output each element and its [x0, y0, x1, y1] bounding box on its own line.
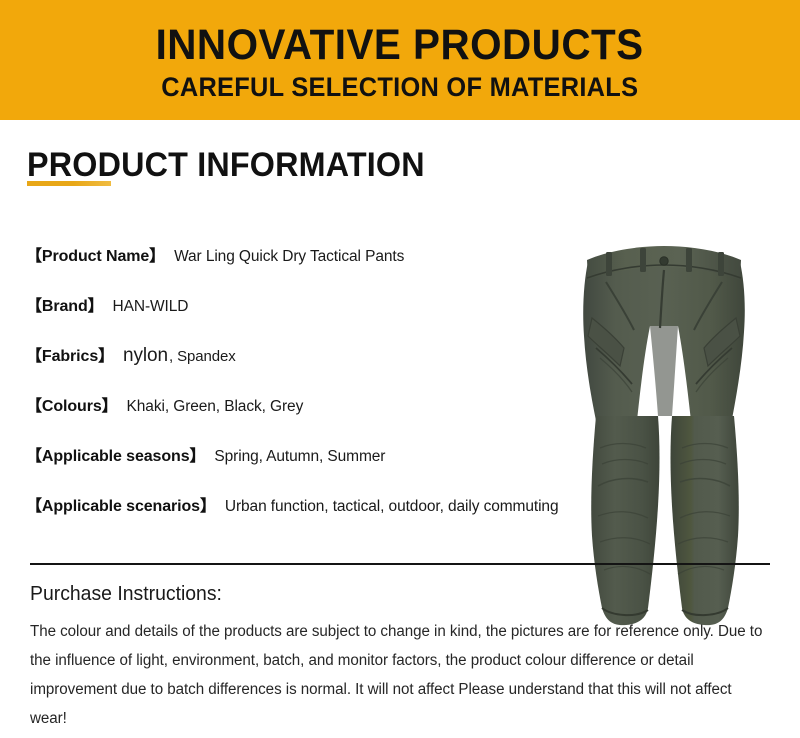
spec-value: nylon [123, 345, 168, 367]
spec-row-fabrics: 【Fabrics】 nylon , Spandex [26, 342, 586, 392]
spec-value: War Ling Quick Dry Tactical Pants [174, 248, 404, 266]
spec-value: Spring, Autumn, Summer [214, 448, 385, 466]
spec-value-secondary: , Spandex [169, 348, 236, 365]
pants-right-leg [671, 416, 739, 625]
belt-loop-left [606, 252, 612, 276]
spec-row-product-name: 【Product Name】 War Ling Quick Dry Tactic… [26, 242, 586, 292]
spec-value: Khaki, Green, Black, Grey [127, 398, 304, 416]
waist-button [660, 257, 668, 265]
product-spec-list: 【Product Name】 War Ling Quick Dry Tactic… [26, 242, 586, 542]
spec-label: 【Applicable seasons】 [26, 442, 205, 466]
belt-loop-right [718, 252, 724, 276]
belt-loop-center-left [640, 248, 646, 272]
page-title: PRODUCT INFORMATION [27, 146, 425, 185]
spec-label: 【Fabrics】 [26, 342, 114, 366]
title-accent-bar [27, 181, 111, 186]
spec-value: HAN-WILD [113, 298, 189, 316]
spec-row-colours: 【Colours】 Khaki, Green, Black, Grey [26, 392, 586, 442]
banner-title: INNOVATIVE PRODUCTS [156, 24, 644, 68]
spec-label: 【Product Name】 [26, 242, 165, 266]
banner-subtitle: CAREFUL SELECTION OF MATERIALS [161, 73, 638, 101]
belt-loop-center-right [686, 248, 692, 272]
spec-value: Urban function, tactical, outdoor, daily… [225, 498, 559, 516]
spec-row-applicable-seasons: 【Applicable seasons】 Spring, Autumn, Sum… [26, 442, 586, 492]
purchase-instructions-body: The colour and details of the products a… [30, 617, 764, 733]
pants-crotch [650, 326, 678, 416]
product-image [540, 130, 788, 630]
content-area: PRODUCT INFORMATION 【Product Name】 War L… [0, 120, 800, 738]
tactical-pants-illustration [540, 130, 788, 630]
spec-row-brand: 【Brand】 HAN-WILD [26, 292, 586, 342]
spec-label: 【Brand】 [26, 292, 104, 316]
section-divider [30, 563, 770, 565]
spec-label: 【Applicable scenarios】 [26, 492, 216, 516]
header-banner: INNOVATIVE PRODUCTS CAREFUL SELECTION OF… [0, 0, 800, 120]
purchase-instructions-heading: Purchase Instructions: [30, 583, 222, 606]
spec-row-applicable-scenarios: 【Applicable scenarios】 Urban function, t… [26, 492, 586, 542]
spec-label: 【Colours】 [26, 392, 118, 416]
